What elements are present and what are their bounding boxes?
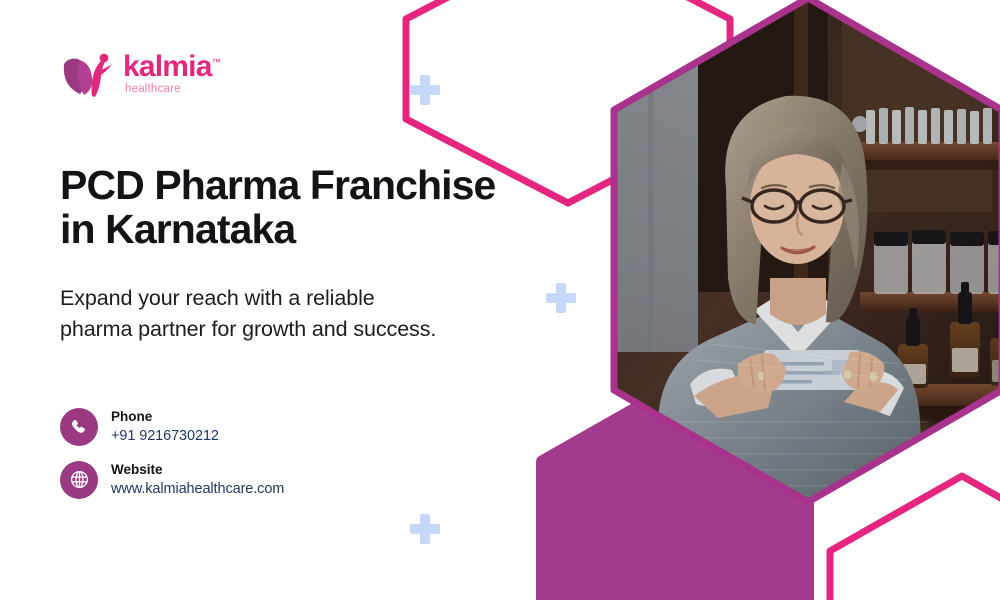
brand-logo[interactable]: kalmia™ healthcare [60, 50, 220, 98]
butterfly-person-icon [60, 50, 116, 98]
contact-text-phone: Phone +91 9216730212 [111, 408, 219, 447]
contact-label-website: Website [111, 461, 284, 479]
headline-line-1: PCD Pharma Franchise [60, 162, 495, 208]
globe-icon [60, 461, 98, 499]
page-subtitle: Expand your reach with a reliable pharma… [60, 283, 555, 345]
logo-trademark: ™ [212, 57, 220, 67]
promotional-banner: kalmia™ healthcare PCD Pharma Franchise … [0, 0, 1000, 600]
contact-label-phone: Phone [111, 408, 219, 426]
hero-photo-hexagon [598, 0, 1000, 508]
logo-brand-name: kalmia™ [123, 52, 220, 82]
plus-decoration-top [409, 74, 441, 106]
subheadline-line-1: Expand your reach with a reliable [60, 286, 375, 310]
contact-value-website[interactable]: www.kalmiahealthcare.com [111, 479, 284, 499]
headline-line-2: in Karnataka [60, 206, 295, 252]
contact-block: Phone +91 9216730212 Website www.kalmiah… [60, 408, 284, 499]
phone-icon [60, 408, 98, 446]
contact-value-phone[interactable]: +91 9216730212 [111, 426, 219, 446]
logo-tagline: healthcare [125, 84, 220, 96]
contact-row-website[interactable]: Website www.kalmiahealthcare.com [60, 461, 284, 500]
page-title: PCD Pharma Franchise in Karnataka [60, 163, 530, 252]
contact-text-website: Website www.kalmiahealthcare.com [111, 461, 284, 500]
plus-decoration-bottom [409, 513, 441, 545]
subheadline-line-2: pharma partner for growth and success. [60, 317, 436, 341]
contact-row-phone[interactable]: Phone +91 9216730212 [60, 408, 284, 447]
logo-wordmark: kalmia™ healthcare [123, 52, 220, 96]
